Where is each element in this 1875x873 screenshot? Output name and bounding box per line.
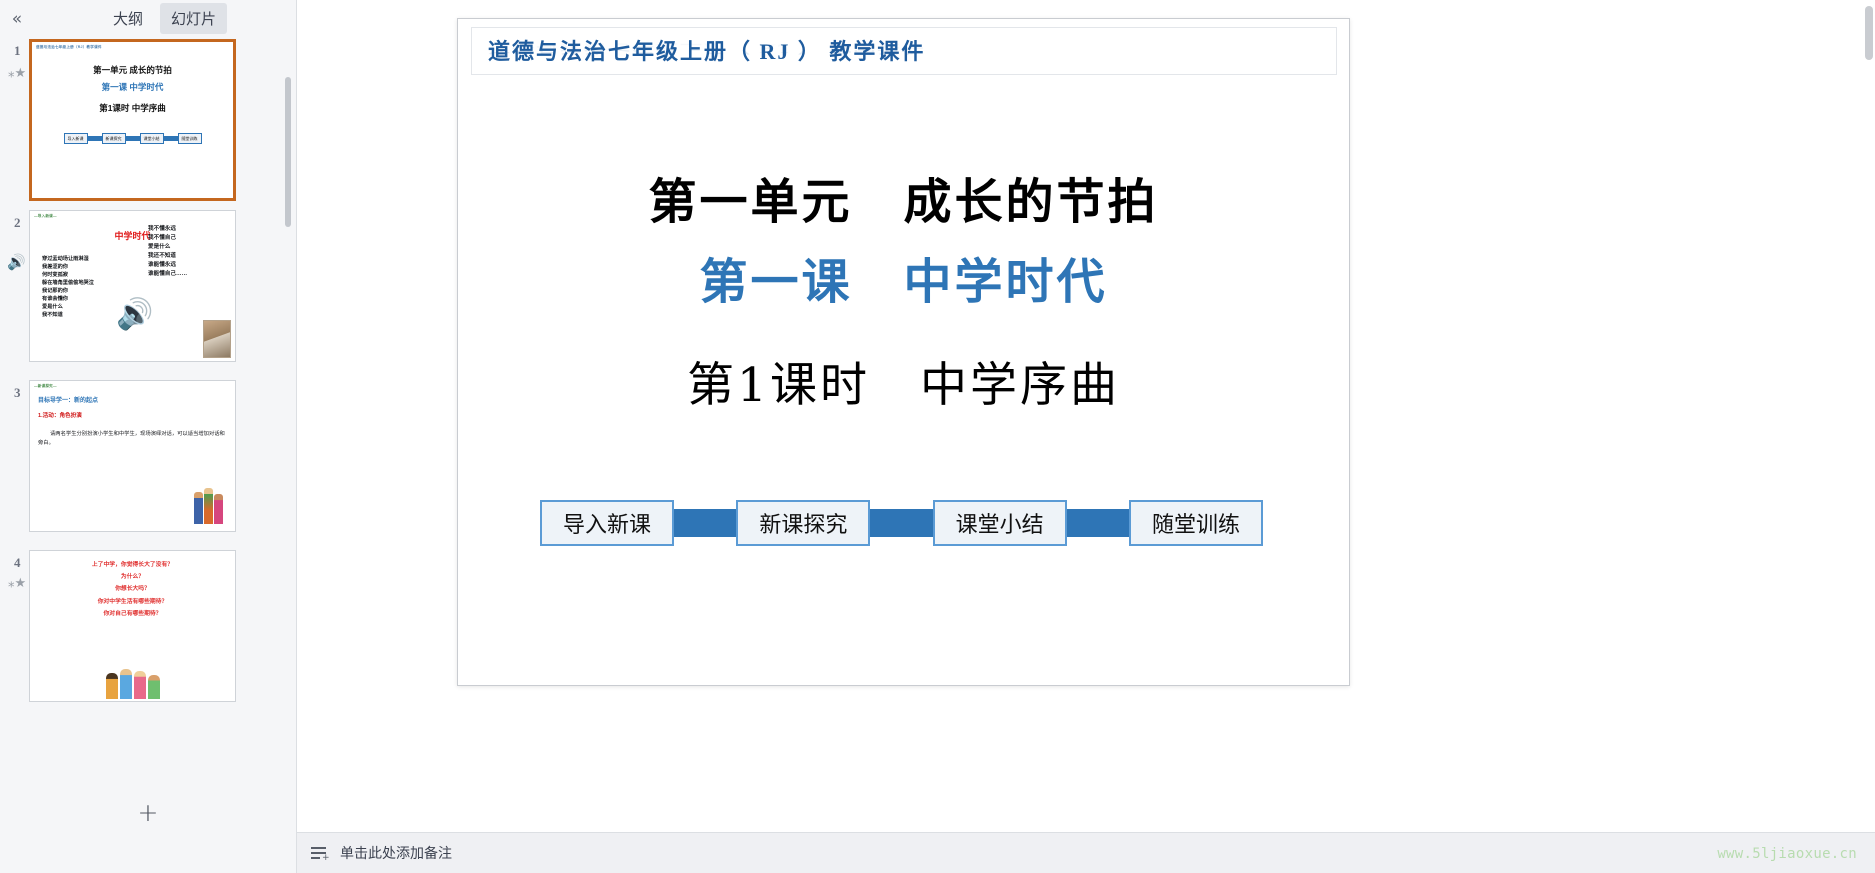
tab-outline[interactable]: 大纲 xyxy=(102,3,154,34)
thumbnail-1-connector-0 xyxy=(88,136,102,141)
panel-header: « 大纲 幻灯片 xyxy=(0,0,296,37)
slide-number-2: 2 xyxy=(14,215,21,231)
notes-placeholder[interactable]: 单击此处添加备注 xyxy=(340,843,452,863)
slide-4-icons: ⁎★ xyxy=(8,575,26,591)
thumbnail-3-line1: 目标导学一：新的起点 xyxy=(38,395,235,404)
powerpoint-editor-window: « 大纲 幻灯片 1 ⁎★ 道德与法治七年级上册（RJ）教学课件 第一单元 成长… xyxy=(0,0,1875,873)
thumbnail-4-question-3: 你对中学生活有哪些期待？ xyxy=(30,596,235,608)
animation-star-icon: ⁎★ xyxy=(8,65,26,81)
slide-nav-strip: 导入新课 新课探究 课堂小结 随堂训练 xyxy=(540,497,1263,549)
thumbnail-2-right-lyrics: 我不懂永远 我不懂自己 爱是什么 我还不知道 谁能懂永远 谁能懂自己…… xyxy=(148,225,187,279)
slide-1-icons: ⁎★ xyxy=(8,65,26,81)
thumbnail-3-header: —新课探究— xyxy=(30,381,235,389)
tab-slides[interactable]: 幻灯片 xyxy=(160,3,227,34)
nav-connector-1 xyxy=(671,509,739,537)
thumbnail-3-line2: 1.活动：角色扮演 xyxy=(38,411,235,419)
add-notes-icon[interactable]: + xyxy=(311,845,329,861)
thumbnail-1-header: 道德与法治七年级上册（RJ）教学课件 xyxy=(32,42,233,50)
main-scrollbar-thumb[interactable] xyxy=(1865,6,1873,60)
thumbnail-4-question-2: 你想长大吗？ xyxy=(30,583,235,595)
slide-thumbnail-1[interactable]: 道德与法治七年级上册（RJ）教学课件 第一单元 成长的节拍 第一课 中学时代 第… xyxy=(29,39,236,201)
thumbnail-1-nav-2: 课堂小结 xyxy=(140,133,164,144)
thumbnail-1-line1: 第一单元 成长的节拍 xyxy=(32,64,233,76)
nav-connector-3 xyxy=(1064,509,1132,537)
slide-banner-box[interactable]: 道德与法治七年级上册（ RJ ） 教学课件 道德与法治七年级上册（ RJ ） 教… xyxy=(471,27,1337,75)
thumbnail-2-header: —导入新课— xyxy=(30,211,235,219)
panel-tabs: 大纲 幻灯片 xyxy=(102,3,227,34)
nav-button-import-lesson[interactable]: 导入新课 xyxy=(540,500,674,546)
slide-thumbnail-4[interactable]: 上了中学，你觉得长大了没有？ 为什么？ 你想长大吗？ 你对中学生活有哪些期待？ … xyxy=(29,550,236,702)
slide-editing-area: 道德与法治七年级上册（ RJ ） 教学课件 道德与法治七年级上册（ RJ ） 教… xyxy=(297,0,1875,833)
nav-button-summary[interactable]: 课堂小结 xyxy=(933,500,1067,546)
nav-connector-2 xyxy=(867,509,935,537)
thumbnail-4-students-image xyxy=(106,669,160,699)
thumbnail-3-body: 请两名学生分别扮演小学生和中学生，现场演绎对话，可以适当增加对话和旁白。 xyxy=(38,430,227,449)
slide-2-icons: 🔊 xyxy=(7,253,26,271)
slide-thumbnail-2[interactable]: —导入新课— 中学时代 穿过盂动场让雨淋湿 我差涩的你 何时变孤寂 躲在墙角里偷… xyxy=(29,210,236,362)
thumbnail-2-photo xyxy=(203,320,231,358)
animation-star-icon: ⁎★ xyxy=(8,575,26,591)
thumbnail-1-nav-strip: 导入新课 新课探究 课堂小结 随堂训练 xyxy=(32,133,233,144)
thumbnail-1-line3: 第1课时 中学序曲 xyxy=(32,102,233,114)
slide-number-3: 3 xyxy=(14,385,21,401)
thumbnail-2-left-lyrics: 穿过盂动场让雨淋湿 我差涩的你 何时变孤寂 躲在墙角里偷偷地哭泣 我记那的你 有… xyxy=(42,255,94,320)
current-slide-canvas[interactable]: 道德与法治七年级上册（ RJ ） 教学课件 道德与法治七年级上册（ RJ ） 教… xyxy=(457,18,1350,686)
thumbnail-scrollbar-thumb[interactable] xyxy=(285,77,291,227)
thumbnail-1-line2: 第一课 中学时代 xyxy=(32,81,233,93)
notes-bar: + 单击此处添加备注 www.5ljiaoxue.cn xyxy=(297,832,1875,873)
collapse-panel-icon[interactable]: « xyxy=(0,4,34,34)
slide-number-1: 1 xyxy=(14,43,21,59)
thumbnail-4-question-0: 上了中学，你觉得长大了没有？ xyxy=(30,559,235,571)
slide-number-4: 4 xyxy=(14,555,21,571)
audio-speaker-icon[interactable]: 🔊 xyxy=(7,253,26,271)
site-watermark: www.5ljiaoxue.cn xyxy=(1717,846,1857,862)
thumbnail-1-nav-3: 随堂训练 xyxy=(178,133,202,144)
main-scrollbar-track[interactable] xyxy=(1865,6,1873,696)
thumbnail-1-nav-1: 新课探究 xyxy=(102,133,126,144)
thumbnail-1-nav-0: 导入新课 xyxy=(64,133,88,144)
thumbnail-4-question-4: 你对自己有哪些期待？ xyxy=(30,608,235,620)
slide-unit-title: 第一单元 成长的节拍 xyxy=(458,162,1349,232)
thumbnail-1-connector-2 xyxy=(164,136,178,141)
slide-lesson-title: 第一课 中学时代 xyxy=(458,242,1349,312)
thumbnail-3-students-image xyxy=(194,488,223,524)
thumbnail-2-title: 中学时代 xyxy=(30,229,235,242)
add-slide-button[interactable]: + xyxy=(138,800,159,825)
thumbnail-4-question-1: 为什么？ xyxy=(30,571,235,583)
slide-navigator-panel: « 大纲 幻灯片 1 ⁎★ 道德与法治七年级上册（RJ）教学课件 第一单元 成长… xyxy=(0,0,297,873)
slide-period-title: 第1课时 中学序曲 xyxy=(458,346,1349,415)
thumbnail-2-speaker-icon: 🔊 xyxy=(116,297,153,332)
thumbnail-1-connector-1 xyxy=(126,136,140,141)
nav-button-explore-lesson[interactable]: 新课探究 xyxy=(736,500,870,546)
add-slide-bar: + xyxy=(0,792,296,832)
slide-thumbnail-list[interactable]: 1 ⁎★ 道德与法治七年级上册（RJ）教学课件 第一单元 成长的节拍 第一课 中… xyxy=(0,37,297,832)
slide-thumbnail-3[interactable]: —新课探究— 目标导学一：新的起点 1.活动：角色扮演 请两名学生分别扮演小学生… xyxy=(29,380,236,532)
slide-banner-title-reflection: 道德与法治七年级上册（ RJ ） 教学课件 xyxy=(488,40,925,58)
nav-button-practice[interactable]: 随堂训练 xyxy=(1129,500,1263,546)
plus-glyph: + xyxy=(322,854,330,863)
